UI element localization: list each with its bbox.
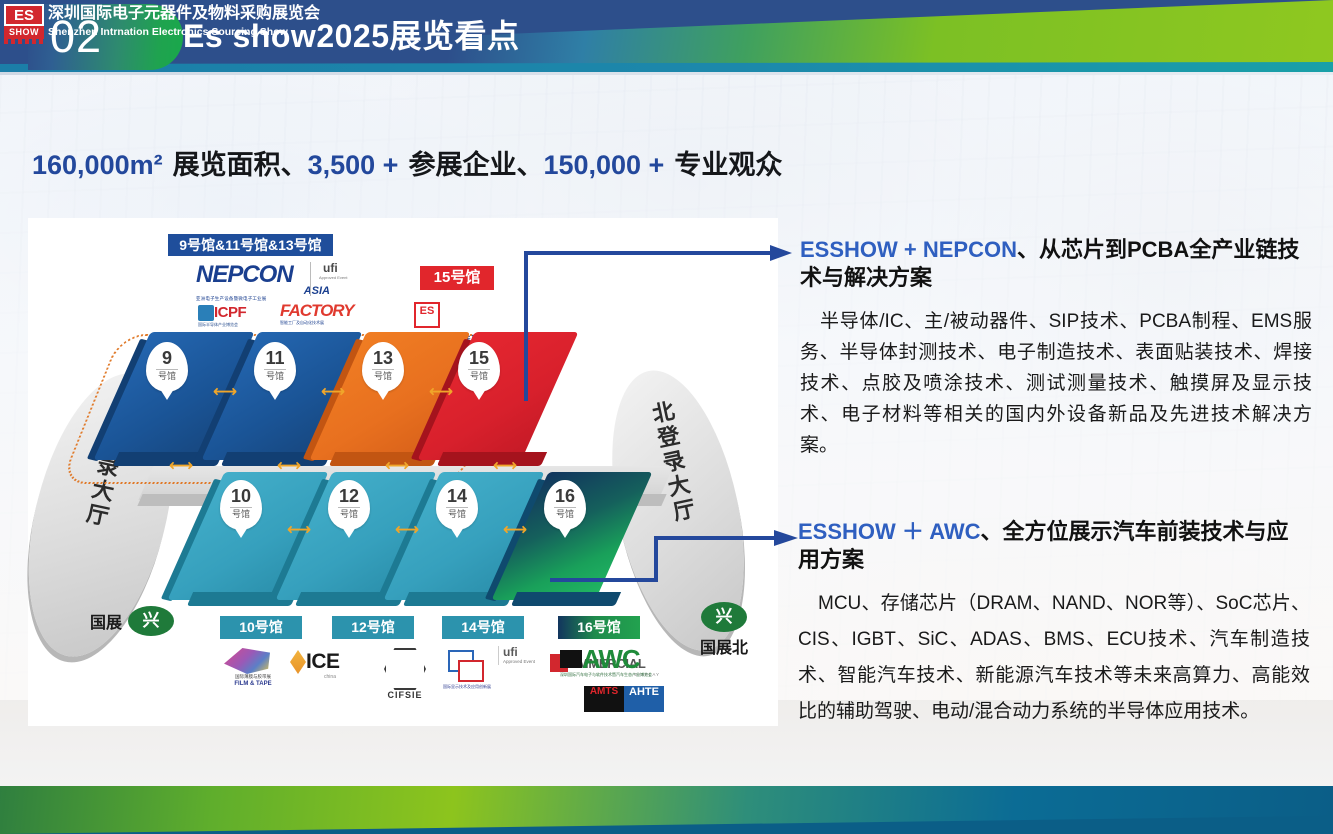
- awc-wordmark: AWC: [582, 646, 640, 672]
- hall-11-number: 11: [254, 342, 296, 369]
- hall-14-pin: 14 号馆: [436, 480, 478, 530]
- info-block-1-body: 半导体/IC、主/被动器件、SIP技术、PCBA制程、EMS服务、半导体封测技术…: [800, 306, 1312, 461]
- ice-subtitle: china: [290, 674, 370, 681]
- connector-arrow-to-block-2: [548, 528, 803, 598]
- awc-logo: AWC 深圳国际汽车电子与软件技术暨汽车生态产业博览会: [560, 646, 672, 678]
- gz-south-label: 国展: [90, 609, 128, 633]
- footer-logo-dots-icon: [4, 39, 44, 44]
- cifsie-logo: CIFSIE: [374, 648, 436, 701]
- corridor-arrow-1-icon: ⟷: [168, 458, 194, 474]
- ice-diamond-icon: [290, 650, 306, 674]
- stat-area-label: 展览面积、: [173, 150, 308, 180]
- footer-text-cn: 深圳国际电子元器件及物料采购展览会: [48, 3, 320, 25]
- hall-11-suffix: 号馆: [264, 369, 286, 381]
- hall-11-pin: 11 号馆: [254, 342, 296, 392]
- info-block-1-heading: ESSHOW + NEPCON、从芯片到PCBA全产业链技术与解决方案: [800, 236, 1312, 292]
- corridor-arrow-4-icon: ⟷: [492, 458, 518, 474]
- info-block-2-heading-blue: ESSHOW ＋ AWC: [798, 519, 981, 544]
- sfactory-logo: FACTORY 智能工厂及自动化技术展: [280, 302, 395, 326]
- ufi-subtitle: Approved Event: [311, 275, 355, 280]
- sfactory-wordmark: FACTORY: [280, 302, 395, 320]
- sfactory-subtitle: 智能工厂及自动化技术展: [280, 320, 395, 326]
- hall-16-pin: 16 号馆: [544, 480, 586, 530]
- icpf-logo: ICPF 国际半导体产业博览会: [198, 304, 274, 326]
- ice-wordmark: ICE: [306, 651, 340, 673]
- hall-10-number: 10: [220, 480, 262, 507]
- header-underline: [0, 72, 1333, 75]
- hall-13-suffix: 号馆: [372, 369, 394, 381]
- footer-logo-es: ES: [4, 4, 44, 26]
- slide-footer: [0, 786, 1333, 834]
- info-block-2-heading: ESSHOW ＋ AWC、全方位展示汽车前装技术与应用方案: [798, 518, 1310, 574]
- awc-subtitle: 深圳国际汽车电子与软件技术暨汽车生态产业博览会: [560, 672, 672, 678]
- amts-ahte-logo: AMTSAHTE: [584, 686, 674, 712]
- corridor-arrow-3-icon: ⟷: [384, 458, 410, 474]
- label-halls-9-11-13: 9号馆&11号馆&13号馆: [168, 234, 333, 256]
- hall-16-suffix: 号馆: [554, 507, 576, 519]
- hall-10-pin: 10 号馆: [220, 480, 262, 530]
- hall-15-pin: 15 号馆: [458, 342, 500, 392]
- ufi2-wordmark: ufi: [503, 646, 553, 659]
- connector-arrow-to-block-1: [520, 245, 800, 405]
- label-hall-16: 16号馆: [558, 616, 640, 639]
- gz-north-mark-icon: 兴: [701, 602, 747, 632]
- gz-south-mark-icon: 兴: [128, 606, 174, 636]
- stats-line: 160,000m²展览面积、3,500 +参展企业、150,000 +专业观众: [32, 143, 782, 182]
- label-hall-14: 14号馆: [442, 616, 524, 639]
- hall-12-pin: 12 号馆: [328, 480, 370, 530]
- gz-north-badge: 兴国展北: [700, 602, 748, 658]
- ufi-wordmark: ufi: [311, 262, 355, 275]
- hall-15-number: 15: [458, 342, 500, 369]
- hall-14-suffix: 号馆: [446, 507, 468, 519]
- hall-16-number: 16: [544, 480, 586, 507]
- icpf-icon: [198, 305, 214, 321]
- ufi-logo: ufi Approved Event: [310, 262, 355, 296]
- info-block-2-body: MCU、存储芯片（DRAM、NAND、NOR等）、SoC芯片、CIS、IGBT、…: [798, 586, 1310, 730]
- stat-area-value: 160,000m²: [32, 150, 163, 180]
- hall-15-suffix: 号馆: [468, 369, 490, 381]
- connector-arrow-9-11-icon: ⟷: [212, 384, 238, 400]
- info-block-nepcon: ESSHOW + NEPCON、从芯片到PCBA全产业链技术与解决方案 半导体/…: [800, 236, 1312, 461]
- corridor-arrow-2-icon: ⟷: [276, 458, 302, 474]
- esshow-mark: ES: [414, 302, 440, 328]
- hall-10-suffix: 号馆: [230, 507, 252, 519]
- label-hall-15: 15号馆: [420, 266, 494, 290]
- ahte-wordmark: AHTE: [624, 686, 664, 712]
- film-tape-icon: [224, 648, 270, 674]
- hall-9-number: 9: [146, 342, 188, 369]
- info-block-awc: ESSHOW ＋ AWC、全方位展示汽车前装技术与应用方案 MCU、存储芯片（D…: [798, 518, 1310, 730]
- cifsie-hex-icon: [384, 648, 426, 690]
- connector-arrow-12-14-icon: ⟷: [394, 522, 420, 538]
- gz-north-label: 国展北: [700, 632, 748, 658]
- icpf-subtitle: 国际半导体产业博览会: [198, 322, 274, 328]
- display-square-front-icon: [458, 660, 484, 682]
- connector-arrow-10-12-icon: ⟷: [286, 522, 312, 538]
- connector-arrow-11-13-icon: ⟷: [320, 384, 346, 400]
- display-subtitle: 国际显示技术及应用创新展: [438, 684, 496, 690]
- ufi-approved-logo: ufi Approved Event: [498, 646, 553, 665]
- amts-wordmark: AMTS: [584, 686, 624, 712]
- footer-gradient: [0, 786, 1333, 834]
- ufi2-subtitle: Approved Event: [503, 659, 553, 665]
- hall-9-pin: 9 号馆: [146, 342, 188, 392]
- cifsie-wordmark: CIFSIE: [374, 690, 436, 701]
- footer-text-en: Shenzhen Intrnation Electronics Sourcing…: [48, 25, 320, 39]
- stat-exhibitors-label: 参展企业、: [408, 150, 543, 180]
- hall-13-pin: 13 号馆: [362, 342, 404, 392]
- gz-south-badge: 国展兴: [90, 606, 174, 636]
- hall-14-number: 14: [436, 480, 478, 507]
- footer-esshow-logo: ES SHOW: [4, 4, 44, 46]
- hall-13-number: 13: [362, 342, 404, 369]
- stat-visitors-value: 150,000 +: [543, 150, 664, 180]
- hall-12-suffix: 号馆: [338, 507, 360, 519]
- label-hall-10: 10号馆: [220, 616, 302, 639]
- awc-icon: [560, 650, 582, 668]
- connector-arrow-13-15-icon: ⟷: [428, 384, 454, 400]
- footer-logo-show: SHOW: [4, 26, 44, 39]
- ice-china-logo: ICE china: [290, 650, 370, 681]
- film-tape-logo: 国际薄膜与胶带展 FILM & TAPE: [214, 648, 292, 688]
- info-block-1-heading-blue: ESSHOW + NEPCON: [800, 237, 1017, 262]
- film-tape-en: FILM & TAPE: [214, 680, 292, 688]
- hall-9-suffix: 号馆: [156, 369, 178, 381]
- stat-visitors-label: 专业观众: [674, 150, 782, 180]
- footer-text: 深圳国际电子元器件及物料采购展览会 Shenzhen Intrnation El…: [48, 3, 320, 39]
- label-hall-12: 12号馆: [332, 616, 414, 639]
- connector-arrow-14-16-icon: ⟷: [502, 522, 528, 538]
- ice-row: ICE: [290, 650, 370, 674]
- hall-12-number: 12: [328, 480, 370, 507]
- icpf-wordmark: ICPF: [214, 304, 246, 321]
- stat-exhibitors-value: 3,500 +: [308, 150, 399, 180]
